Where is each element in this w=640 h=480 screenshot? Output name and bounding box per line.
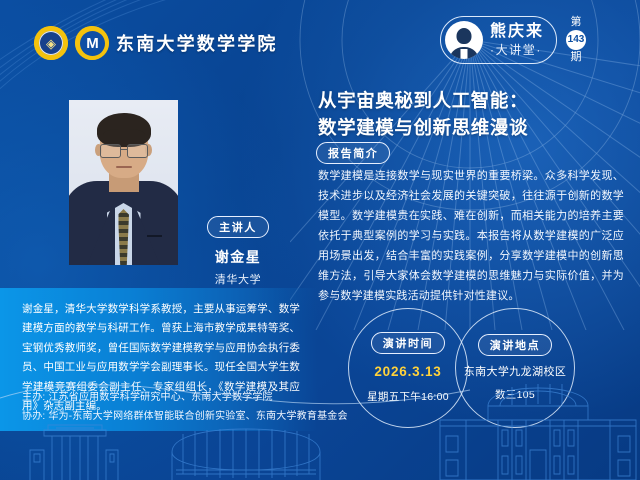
speaker-portrait-photo: [69, 100, 178, 265]
abstract-badge: 报告简介: [316, 142, 390, 164]
series-pill: 熊庆来 ·大讲堂·: [440, 16, 557, 64]
lecture-time-circle: 演讲时间 2026.3.13 星期五下午16:00: [348, 308, 468, 428]
organization-name: 东南大学数学学院: [116, 30, 278, 56]
lecture-campus: 东南大学九龙湖校区: [464, 366, 567, 379]
footer-host: 主办: 江苏省应用数学科学研究中心、东南大学数学学院: [22, 389, 348, 408]
lecture-date: 2026.3.13: [374, 364, 441, 380]
lecture-title: 从宇宙奥秘到人工智能：数学建模与创新思维漫谈: [318, 88, 618, 142]
lecture-room: 数三105: [495, 387, 535, 402]
speaker-role-badge: 主讲人: [207, 216, 269, 238]
institution-logo-group: ◈ M 东南大学数学学院: [34, 26, 278, 60]
seu-university-seal-icon: ◈: [34, 26, 68, 60]
speaker-affiliation: 清华大学: [186, 271, 290, 287]
xiong-qinglai-portrait-icon: [445, 21, 483, 59]
series-title: 熊庆来: [490, 24, 544, 41]
issue-prefix: 第: [571, 17, 582, 28]
lecture-series-mark: 熊庆来 ·大讲堂· 第 143 期: [440, 16, 586, 64]
issue-number: 143: [566, 30, 586, 50]
lecture-time-detail: 星期五下午16:00: [367, 389, 449, 404]
speaker-info: 主讲人 谢金星 清华大学: [186, 216, 290, 287]
eyeglasses-icon: [99, 144, 149, 157]
footer-cohost: 协办: 华为-东南大学网络群体智能联合创新实验室、东南大学教育基金会: [22, 408, 348, 427]
time-badge: 演讲时间: [371, 332, 445, 354]
abstract-badge-wrap: 报告简介: [316, 142, 390, 164]
lecture-place-circle: 演讲地点 东南大学九龙湖校区 数三105: [455, 308, 575, 428]
issue-suffix: 期: [571, 52, 582, 63]
lecture-abstract: 数学建模是连接数学与现实世界的重要桥梁。众多科学发现、技术进步以及经济社会发展的…: [318, 166, 624, 306]
speaker-name: 谢金星: [186, 247, 290, 267]
math-school-seal-icon: M: [75, 26, 109, 60]
lecture-poster: ◈ M 东南大学数学学院 熊庆来 ·大讲堂· 第 143: [0, 0, 640, 480]
poster-footer: 主办: 江苏省应用数学科学研究中心、东南大学数学学院 协办: 华为-东南大学网络…: [22, 389, 348, 426]
poster-header: ◈ M 东南大学数学学院 熊庆来 ·大讲堂· 第 143: [0, 0, 640, 72]
place-badge: 演讲地点: [478, 334, 552, 356]
series-subtitle: ·大讲堂·: [490, 44, 544, 57]
issue-number-badge: 第 143 期: [566, 17, 586, 63]
